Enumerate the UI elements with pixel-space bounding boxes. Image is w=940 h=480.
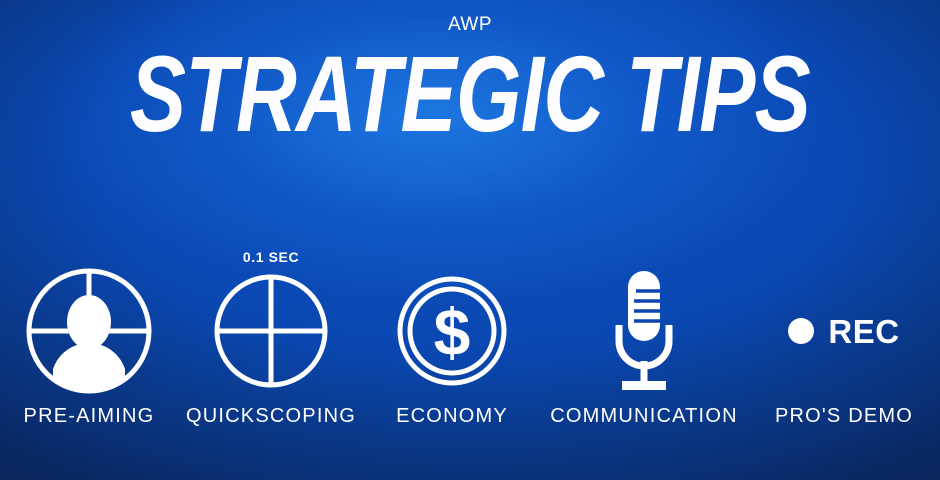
crosshair-head-icon <box>25 267 153 395</box>
tip-art-communication <box>540 256 748 406</box>
tip-label-pros-demo: PRO'S DEMO <box>775 406 913 448</box>
rec-label: REC <box>828 315 899 348</box>
tip-art-pre-aiming <box>0 256 178 406</box>
page-title: STRATEGIC TIPS <box>103 39 836 149</box>
tip-art-pros-demo: REC <box>748 256 940 406</box>
tip-art-economy: $ <box>364 256 540 406</box>
tip-label-pre-aiming: PRE-AIMING <box>24 406 155 448</box>
tip-item-pros-demo: REC PRO'S DEMO <box>748 248 940 448</box>
rec-indicator: REC <box>788 315 899 348</box>
tip-art-quickscoping <box>178 256 364 406</box>
microphone-icon <box>603 269 685 393</box>
svg-text:$: $ <box>434 295 471 369</box>
poster-canvas: AWP STRATEGIC TIPS <box>0 0 940 480</box>
tip-label-economy: ECONOMY <box>396 406 508 448</box>
tip-label-quickscoping: QUICKSCOPING <box>186 406 356 448</box>
dollar-coin-icon: $ <box>397 276 507 386</box>
poster-header: AWP STRATEGIC TIPS <box>0 0 940 149</box>
crosshair-icon <box>213 273 329 389</box>
tip-label-communication: COMMUNICATION <box>550 406 737 448</box>
tips-row: PRE-AIMING 0.1 SEC QUICKSCOPING $ <box>0 248 940 448</box>
tip-item-economy: $ ECONOMY <box>364 248 540 448</box>
tip-item-quickscoping: 0.1 SEC QUICKSCOPING <box>178 248 364 448</box>
record-icon <box>788 318 814 344</box>
eyebrow-text: AWP <box>0 15 940 34</box>
tip-item-pre-aiming: PRE-AIMING <box>0 248 178 448</box>
tip-item-communication: COMMUNICATION <box>540 248 748 448</box>
